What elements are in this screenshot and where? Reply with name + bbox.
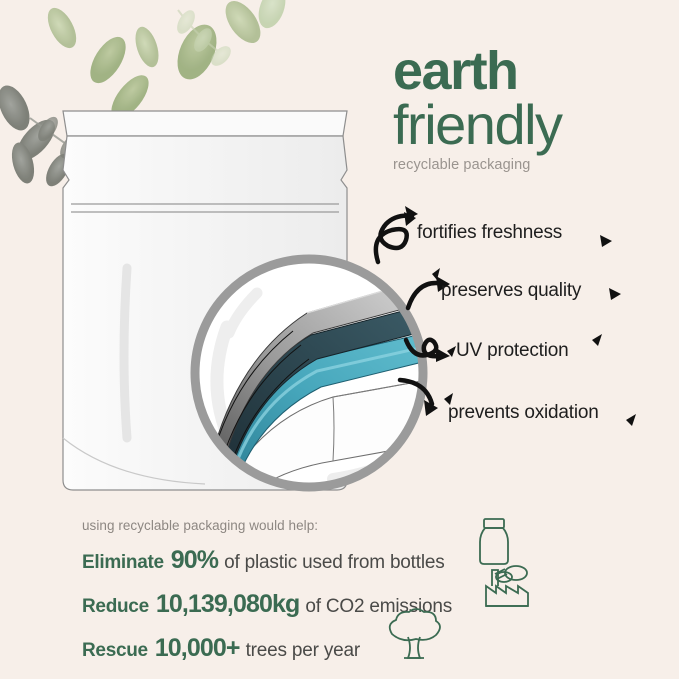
headline-subtitle: recyclable packaging (393, 157, 663, 173)
stat-figure: 90% (171, 546, 218, 575)
feature-label-prevents-oxidation: prevents oxidation (448, 402, 599, 424)
stat-figure: 10,000+ (155, 634, 240, 663)
title-line-earth: earth (393, 46, 663, 96)
infographic-canvas: fortifies freshness preserves quality UV… (0, 0, 679, 679)
stat-figure: 10,139,080kg (156, 590, 300, 619)
stat-verb: Rescue (82, 640, 148, 662)
stat-verb: Eliminate (82, 552, 164, 574)
title-line-friendly: friendly (393, 96, 663, 154)
feature-label-preserves-quality: preserves quality (441, 280, 581, 302)
feature-label-uv-protection: UV protection (456, 340, 569, 362)
stat-verb: Reduce (82, 596, 149, 618)
stat-tail: trees per year (246, 640, 360, 662)
stats-intro-text: using recyclable packaging would help: (82, 518, 602, 533)
factory-icon (478, 560, 536, 612)
tree-icon (378, 606, 450, 668)
feature-label-fortifies-freshness: fortifies freshness (417, 222, 562, 244)
stat-row-rescue: Rescue 10,000+ trees per year (82, 634, 602, 663)
headline-block: earth friendly recyclable packaging (393, 46, 663, 173)
stat-tail: of plastic used from bottles (224, 552, 444, 574)
